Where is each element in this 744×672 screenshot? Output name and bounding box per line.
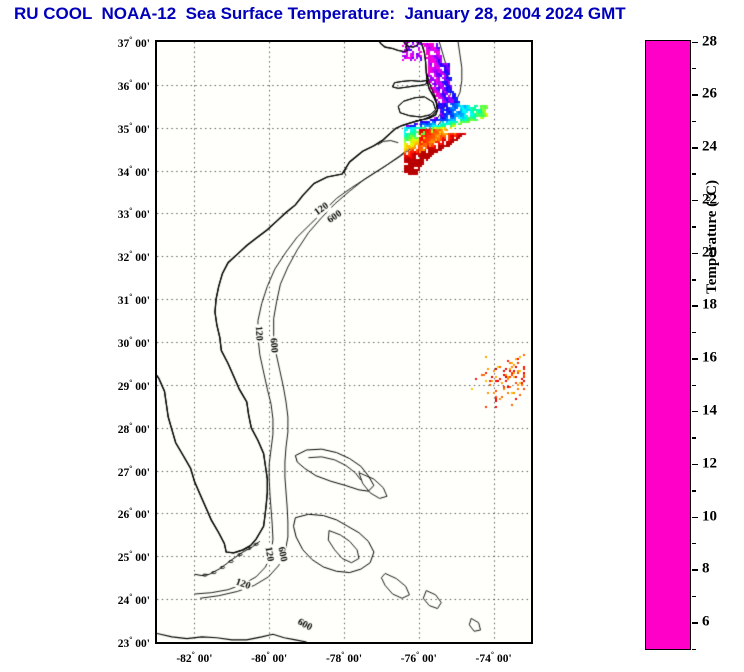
colorbar-minor-tick — [692, 596, 696, 598]
colorbar-minor-tick — [692, 490, 696, 492]
colorbar-tick-label: 14 — [702, 402, 717, 419]
colorbar-minor-tick — [692, 226, 696, 228]
lat-tick-label: 33° 00' — [94, 206, 150, 221]
colorbar-minor-tick — [692, 121, 696, 123]
lat-tick-label: 35° 00' — [94, 121, 150, 136]
lat-tick-label: 25° 00' — [94, 549, 150, 564]
lat-tick-label: 29° 00' — [94, 378, 150, 393]
lat-tick-label: 26° 00' — [94, 506, 150, 521]
colorbar-minor-tick — [692, 332, 696, 334]
lon-tick-label: -76° 00' — [401, 650, 437, 665]
colorbar-minor-tick — [692, 437, 696, 439]
colorbar-ticks: 6810121416182022242628 — [646, 40, 736, 650]
colorbar-axis-label: Temperature (°C) — [704, 180, 721, 294]
lon-tick-label: -78° 00' — [326, 650, 362, 665]
lat-tick-label: 36° 00' — [94, 78, 150, 93]
sst-map-canvas — [157, 42, 531, 642]
colorbar-tick-label: 24 — [702, 139, 717, 156]
lat-tick-label: 32° 00' — [94, 249, 150, 264]
colorbar-tick-label: 10 — [702, 508, 717, 525]
lat-tick-label: 34° 00' — [94, 164, 150, 179]
lat-tick-label: 31° 00' — [94, 292, 150, 307]
colorbar-tick-label: 16 — [702, 350, 717, 367]
colorbar-tick — [692, 464, 698, 466]
page-title: RU COOL NOAA-12 Sea Surface Temperature:… — [14, 4, 626, 24]
colorbar-tick — [692, 622, 698, 624]
colorbar-tick — [692, 517, 698, 519]
colorbar-tick-label: 12 — [702, 455, 717, 472]
lon-tick-label: -80° 00' — [251, 650, 287, 665]
colorbar-tick-label: 28 — [702, 33, 717, 50]
colorbar-tick-label: 8 — [702, 561, 710, 578]
lon-tick-label: -74° 00' — [476, 650, 512, 665]
lat-tick-label: 30° 00' — [94, 335, 150, 350]
sst-map-panel — [155, 40, 533, 644]
longitude-axis: -82° 00'-80° 00'-78° 00'-76° 00'-74° 00' — [155, 648, 533, 670]
lat-tick-label: 28° 00' — [94, 421, 150, 436]
colorbar-tick — [692, 305, 698, 307]
colorbar-tick — [692, 569, 698, 571]
latitude-axis: 23° 00'24° 00'25° 00'26° 00'27° 00'28° 0… — [92, 40, 150, 644]
lat-tick-label: 27° 00' — [94, 464, 150, 479]
colorbar-tick — [692, 253, 698, 255]
colorbar-minor-tick — [692, 543, 696, 545]
colorbar-minor-tick — [692, 279, 696, 281]
colorbar-tick-label: 6 — [702, 614, 710, 631]
colorbar-tick — [692, 94, 698, 96]
lon-tick-label: -82° 00' — [176, 650, 212, 665]
colorbar-minor-tick — [692, 68, 696, 70]
colorbar-minor-tick — [692, 649, 696, 651]
colorbar-minor-tick — [692, 173, 696, 175]
colorbar-tick-label: 26 — [702, 86, 717, 103]
colorbar-tick — [692, 200, 698, 202]
colorbar-tick-label: 18 — [702, 297, 717, 314]
lat-tick-label: 37° 00' — [94, 35, 150, 50]
lat-tick-label: 24° 00' — [94, 592, 150, 607]
colorbar-tick — [692, 358, 698, 360]
colorbar-minor-tick — [692, 385, 696, 387]
colorbar-tick — [692, 411, 698, 413]
colorbar-tick — [692, 147, 698, 149]
lat-tick-label: 23° 00' — [94, 635, 150, 650]
colorbar-tick — [692, 42, 698, 44]
